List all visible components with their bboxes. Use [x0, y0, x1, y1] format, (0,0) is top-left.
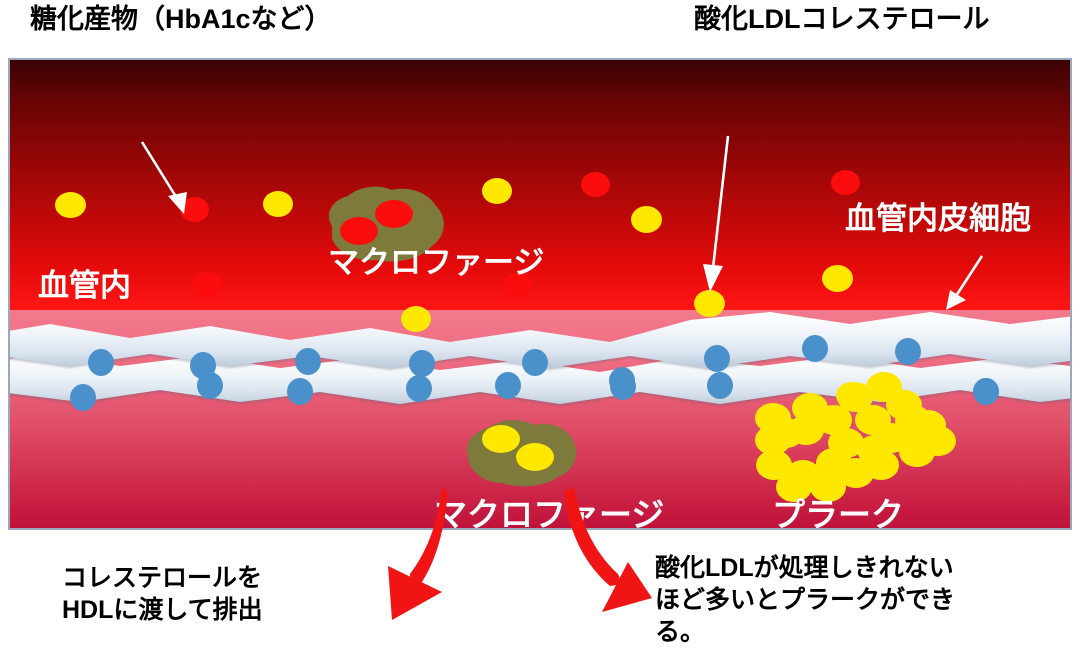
particle-oxidized-ldl — [482, 178, 512, 204]
endothelial-cell-nucleus — [190, 352, 216, 379]
label-endothelial-cell: 血管内皮細胞 — [845, 203, 1031, 234]
plaque-lipid-droplet — [768, 418, 804, 448]
macrophage-lower — [458, 415, 582, 490]
caption-plaque-formation: 酸化LDLが処理しきれない ほど多いとプラークができ る。 — [655, 552, 955, 648]
blood-vessel-diagram-panel: 血管内 マクロファージ 血管内皮細胞 マクロファージ プラーク — [8, 58, 1072, 530]
particle-oxidized-ldl — [55, 192, 86, 218]
caption-hdl-efflux: コレステロールを HDLに渡して排出 — [62, 562, 263, 626]
endothelial-cell-nucleus — [704, 345, 730, 372]
macrophage-inclusion-lipid — [516, 443, 554, 471]
endothelial-cell-nucleus — [973, 378, 999, 405]
plaque-lipid-droplet — [863, 450, 899, 480]
endothelial-cell-nucleus — [802, 335, 828, 362]
particle-oxidized-ldl — [401, 306, 431, 332]
label-macrophage-upper: マクロファージ — [328, 247, 544, 278]
endothelial-cell-nucleus — [895, 338, 921, 365]
arrow-down-icon-oxidized-ldl — [700, 132, 750, 297]
macrophage-inclusion-glycation — [375, 200, 413, 228]
endothelial-cell-nucleus — [609, 367, 635, 394]
particle-glycation-product — [193, 272, 222, 297]
endothelial-cell-nucleus — [70, 384, 96, 411]
endothelial-cell-nucleus — [707, 372, 733, 399]
endothelial-cell-nucleus — [287, 378, 313, 405]
macrophage-inclusion-lipid — [482, 425, 520, 453]
particle-glycation-product — [831, 170, 860, 195]
endothelial-cell-nucleus — [295, 348, 321, 375]
endothelial-cell-nucleus — [522, 349, 548, 376]
caption-glycation-products: 糖化産物（HbA1cなど） — [30, 6, 332, 33]
endothelial-cell-nucleus — [88, 349, 114, 376]
plaque-lipid-droplet — [873, 423, 909, 453]
endothelial-cell-nucleus — [495, 372, 521, 399]
endothelial-cell-nucleus — [406, 375, 432, 402]
particle-oxidized-ldl — [631, 206, 662, 233]
arrow-down-right-icon-glycation — [138, 138, 208, 224]
macrophage-inclusion-glycation — [340, 217, 378, 245]
particle-oxidized-ldl — [263, 191, 293, 217]
label-macrophage-lower: マクロファージ — [434, 498, 664, 530]
label-intravascular: 血管内 — [38, 270, 131, 301]
particle-glycation-product — [581, 172, 610, 197]
label-plaque: プラーク — [772, 498, 904, 530]
arrow-down-left-icon-endothelium — [938, 252, 994, 320]
caption-oxidized-ldl: 酸化LDLコレステロール — [694, 6, 989, 33]
endothelial-cell-nucleus — [409, 350, 435, 377]
particle-oxidized-ldl — [822, 265, 853, 292]
